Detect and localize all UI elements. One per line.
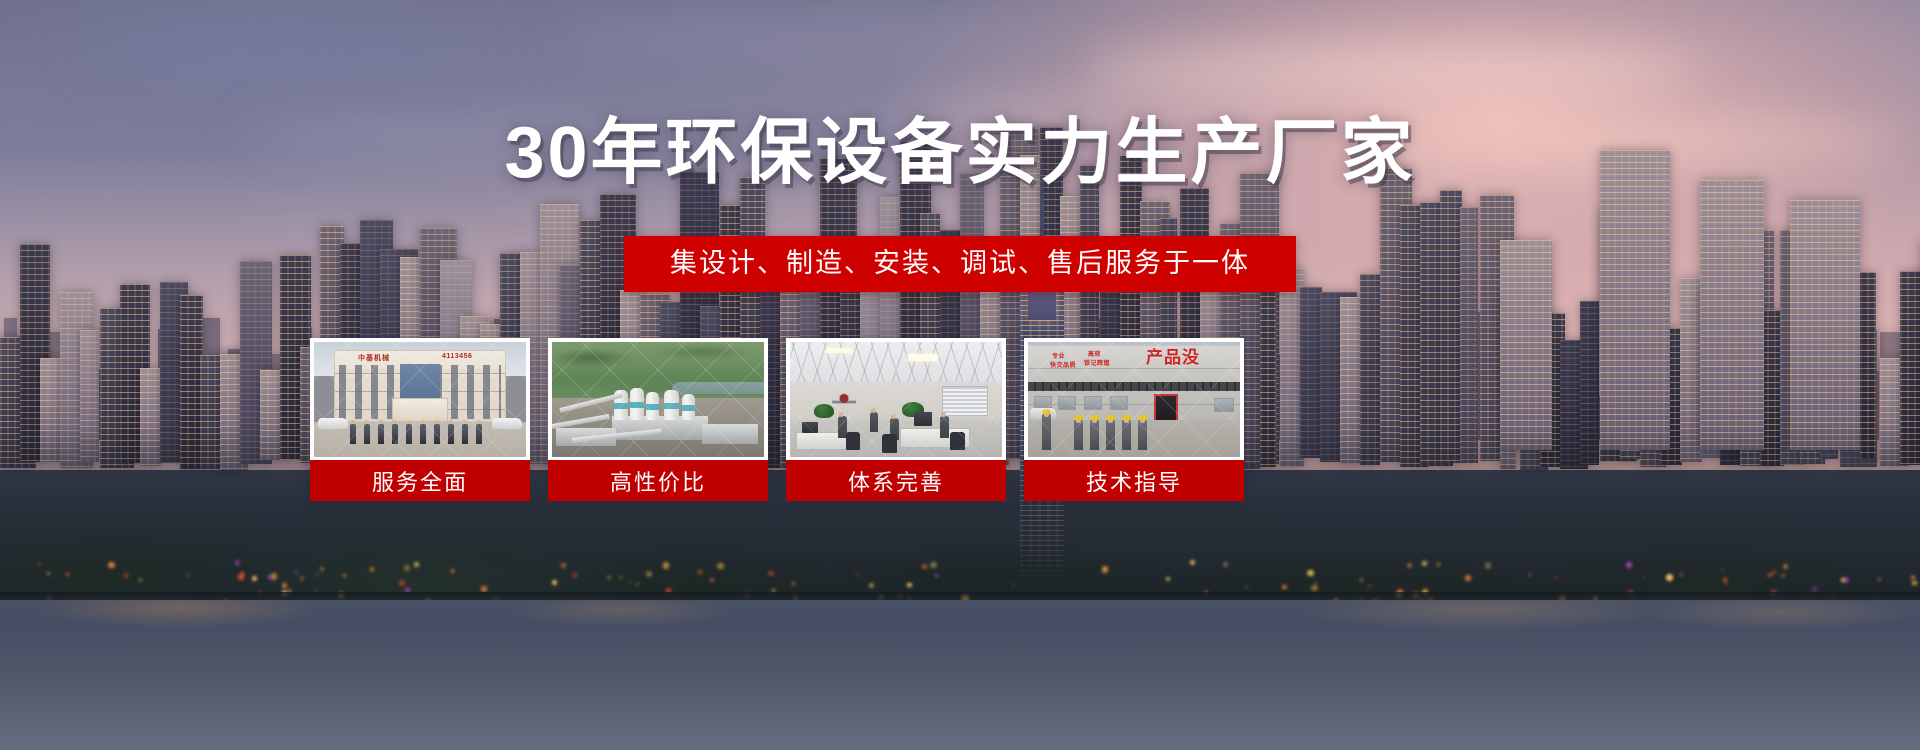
factory-slogan: 专业 bbox=[1052, 354, 1065, 361]
factory-slogan: 高效 bbox=[1088, 352, 1101, 359]
card-caption: 技术指导 bbox=[1024, 460, 1244, 501]
building-sign-text: 中基机械 bbox=[358, 353, 390, 363]
card-caption: 高性价比 bbox=[548, 460, 768, 501]
card-photo-aerial-plant bbox=[552, 342, 764, 457]
building-phone-text: 4113456 bbox=[442, 353, 472, 360]
hero-banner: 30年环保设备实力生产厂家 集设计、制造、安装、调试、售后服务于一体 中 bbox=[0, 0, 1920, 750]
card-photo-office-interior bbox=[790, 342, 1002, 457]
subtitle-badge: 集设计、制造、安装、调试、售后服务于一体 bbox=[624, 236, 1296, 292]
card-caption: 服务全面 bbox=[310, 460, 530, 501]
feature-card[interactable]: 中基机械 4113456 服务全面 bbox=[310, 338, 530, 496]
feature-card[interactable]: 高性价比 bbox=[548, 338, 768, 496]
feature-card[interactable]: 体系完善 bbox=[786, 338, 1006, 496]
factory-slogan: 铁记辉煌 bbox=[1084, 361, 1110, 368]
card-photo-office-building: 中基机械 4113456 bbox=[314, 342, 526, 457]
subtitle-container: 集设计、制造、安装、调试、售后服务于一体 bbox=[0, 236, 1920, 292]
page-title: 30年环保设备实力生产厂家 bbox=[0, 110, 1920, 196]
factory-wall-text: 产品没 bbox=[1146, 349, 1200, 367]
feature-card-list: 中基机械 4113456 服务全面 bbox=[310, 338, 1610, 496]
factory-slogan: 快交品质 bbox=[1050, 363, 1076, 370]
banner-content: 30年环保设备实力生产厂家 集设计、制造、安装、调试、售后服务于一体 中 bbox=[0, 0, 1920, 750]
card-caption: 体系完善 bbox=[786, 460, 1006, 501]
card-photo-factory-workers: 产品没 专业 快交品质 高效 铁记辉煌 bbox=[1028, 342, 1240, 457]
feature-card[interactable]: 产品没 专业 快交品质 高效 铁记辉煌 bbox=[1024, 338, 1244, 496]
